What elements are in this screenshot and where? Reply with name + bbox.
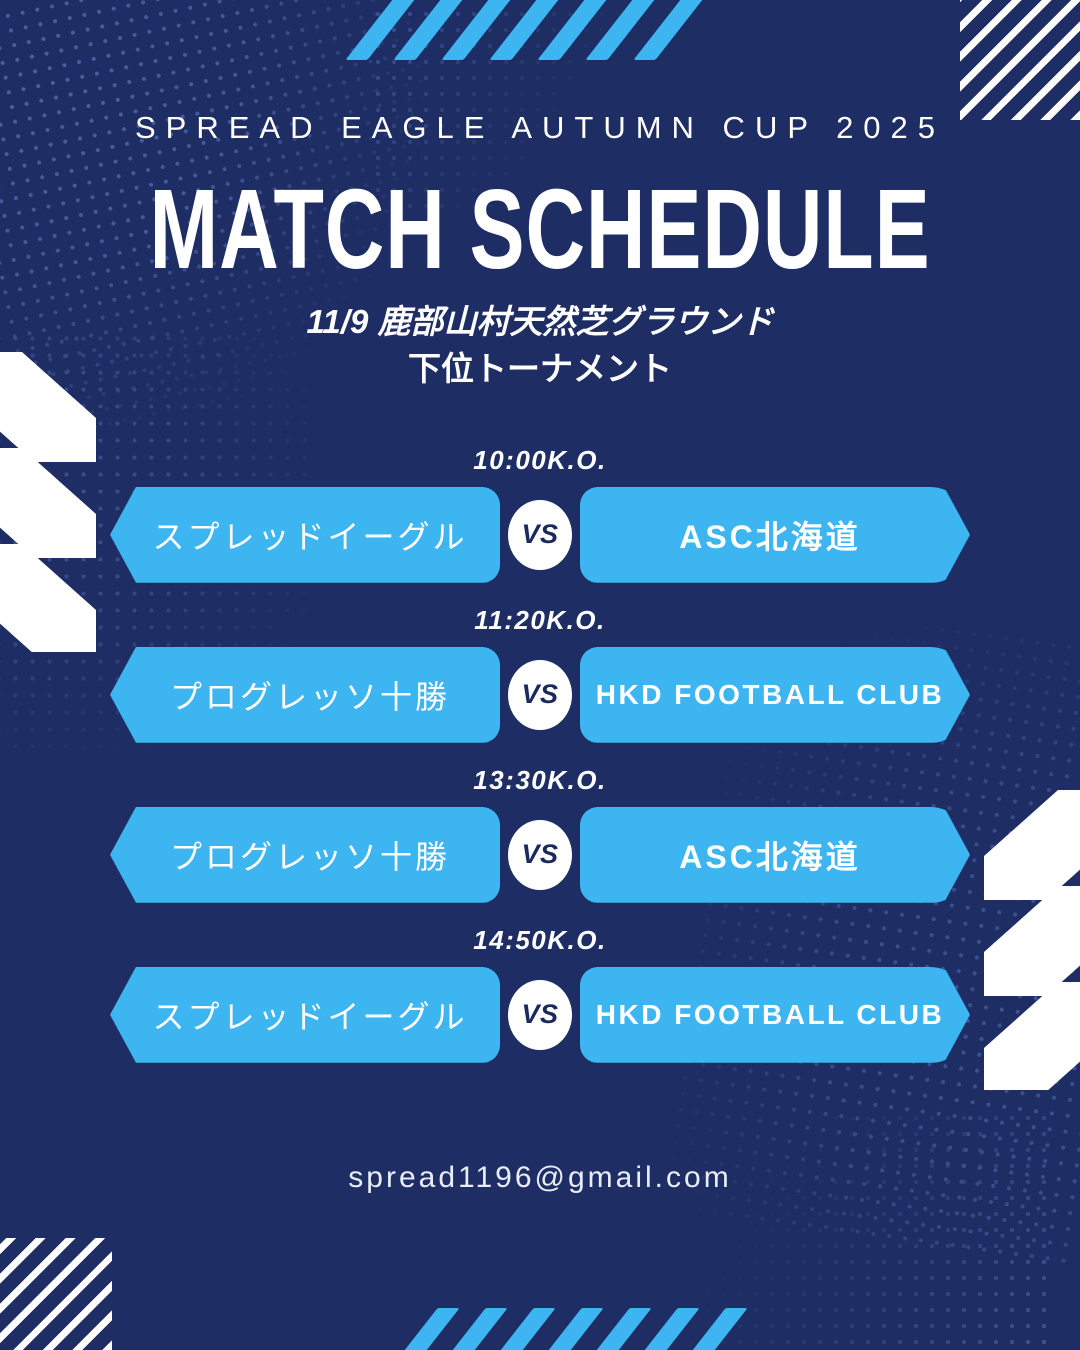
poster-canvas: SPREAD EAGLE AUTUMN CUP 2025 MATCH SCHED… [0,0,1080,1350]
kickoff-time: 14:50K.O. [0,903,1080,967]
event-kicker: SPREAD EAGLE AUTUMN CUP 2025 [0,0,1080,143]
away-team-name: ASC北海道 [679,832,861,878]
fixture: プログレッソ十勝VSHKD FOOTBALL CLUB [110,647,970,743]
kickoff-time: 11:20K.O. [0,583,1080,647]
vs-badge: VS [508,500,572,570]
event-subtitle-line1: 11/9 鹿部山村天然芝グラウンド [0,299,1080,346]
match-list: 10:00K.O.スプレッドイーグルVSASC北海道11:20K.O.プログレッ… [0,423,1080,1063]
home-team-name: プログレッソ十勝 [170,832,450,878]
away-team-pill[interactable]: HKD FOOTBALL CLUB [580,647,970,743]
away-team-name: HKD FOOTBALL CLUB [596,999,944,1031]
away-team-pill[interactable]: ASC北海道 [580,807,970,903]
poster-content: SPREAD EAGLE AUTUMN CUP 2025 MATCH SCHED… [0,0,1080,1350]
home-team-name: プログレッソ十勝 [170,672,450,718]
fixture: スプレッドイーグルVSASC北海道 [110,487,970,583]
page-title: MATCH SCHEDULE [76,143,1005,287]
vs-badge: VS [508,660,572,730]
match-row: 10:00K.O.スプレッドイーグルVSASC北海道 [0,423,1080,583]
away-team-name: HKD FOOTBALL CLUB [596,679,944,711]
home-team-pill[interactable]: スプレッドイーグル [110,967,500,1063]
home-team-pill[interactable]: プログレッソ十勝 [110,807,500,903]
away-team-name: ASC北海道 [679,512,861,558]
away-team-pill[interactable]: ASC北海道 [580,487,970,583]
home-team-name: スプレッドイーグル [152,992,467,1038]
vs-badge: VS [508,980,572,1050]
match-row: 14:50K.O.スプレッドイーグルVSHKD FOOTBALL CLUB [0,903,1080,1063]
event-subtitle-line2: 下位トーナメント [0,346,1080,393]
home-team-pill[interactable]: プログレッソ十勝 [110,647,500,743]
away-team-pill[interactable]: HKD FOOTBALL CLUB [580,967,970,1063]
kickoff-time: 13:30K.O. [0,743,1080,807]
fixture: プログレッソ十勝VSASC北海道 [110,807,970,903]
contact-email: spread1196@gmail.com [0,1063,1080,1195]
fixture: スプレッドイーグルVSHKD FOOTBALL CLUB [110,967,970,1063]
home-team-pill[interactable]: スプレッドイーグル [110,487,500,583]
kickoff-time: 10:00K.O. [0,423,1080,487]
match-row: 11:20K.O.プログレッソ十勝VSHKD FOOTBALL CLUB [0,583,1080,743]
home-team-name: スプレッドイーグル [152,512,467,558]
vs-badge: VS [508,820,572,890]
match-row: 13:30K.O.プログレッソ十勝VSASC北海道 [0,743,1080,903]
